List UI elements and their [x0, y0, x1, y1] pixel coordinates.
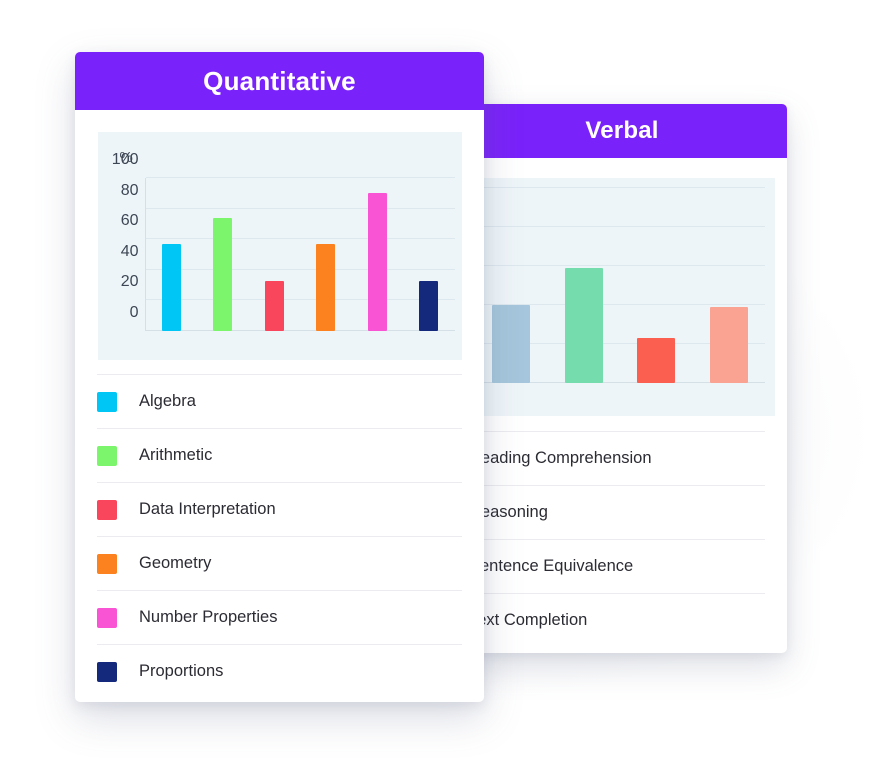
legend-item-label: Reading Comprehension	[469, 449, 652, 468]
bar[interactable]	[637, 338, 675, 383]
legend-item[interactable]: Reasoning	[457, 485, 765, 539]
legend-item-label: Algebra	[139, 392, 196, 411]
legend-item[interactable]: Algebra	[97, 374, 462, 428]
legend-item[interactable]: Data Interpretation	[97, 482, 462, 536]
legend-item-label: Text Completion	[469, 611, 587, 630]
legend-swatch-icon	[97, 554, 117, 574]
quantitative-card-body: % 100806040200 AlgebraArithmeticData Int…	[75, 132, 484, 698]
legend-item[interactable]: Arithmetic	[97, 428, 462, 482]
verbal-card-body: Reading ComprehensionReasoningSentence E…	[457, 178, 787, 647]
verbal-card-title: Verbal	[585, 117, 658, 145]
quantitative-card-title: Quantitative	[203, 66, 356, 97]
verbal-legend: Reading ComprehensionReasoningSentence E…	[457, 431, 765, 647]
legend-swatch-icon	[97, 446, 117, 466]
y-tick-60: 60	[121, 212, 139, 230]
legend-item-label: Arithmetic	[139, 446, 212, 465]
quantitative-bar-chart: % 100806040200	[98, 132, 462, 360]
y-tick-20: 20	[121, 273, 139, 291]
bar[interactable]	[316, 244, 335, 331]
y-tick-100: 100	[112, 151, 139, 169]
legend-item-label: Number Properties	[139, 608, 277, 627]
legend-item-label: Geometry	[139, 554, 211, 573]
legend-item[interactable]: Reading Comprehension	[457, 431, 765, 485]
bar[interactable]	[368, 193, 387, 331]
legend-swatch-icon	[97, 608, 117, 628]
verbal-bar-group	[475, 188, 765, 383]
bar[interactable]	[265, 281, 284, 331]
bar[interactable]	[162, 244, 181, 331]
verbal-bar-chart	[475, 178, 775, 416]
bar[interactable]	[565, 268, 603, 383]
legend-swatch-icon	[97, 500, 117, 520]
legend-item-label: Sentence Equivalence	[469, 557, 633, 576]
legend-item[interactable]: Text Completion	[457, 593, 765, 647]
verbal-card: Verbal Reading ComprehensionReasoningSen…	[457, 104, 787, 653]
bar[interactable]	[419, 281, 438, 331]
quantitative-bar-group	[146, 178, 455, 331]
legend-item-label: Proportions	[139, 662, 223, 681]
verbal-plot-area	[475, 188, 765, 383]
legend-item[interactable]: Number Properties	[97, 590, 462, 644]
quantitative-plot-area: 100806040200	[145, 178, 455, 331]
bar[interactable]	[710, 307, 748, 383]
y-tick-80: 80	[121, 182, 139, 200]
y-tick-40: 40	[121, 243, 139, 261]
legend-swatch-icon	[97, 662, 117, 682]
legend-item[interactable]: Sentence Equivalence	[457, 539, 765, 593]
bar[interactable]	[492, 305, 530, 383]
legend-item[interactable]: Geometry	[97, 536, 462, 590]
quantitative-card-header: Quantitative	[75, 52, 484, 110]
legend-item-label: Data Interpretation	[139, 500, 276, 519]
y-tick-0: 0	[130, 304, 139, 322]
quantitative-legend: AlgebraArithmeticData InterpretationGeom…	[97, 374, 462, 698]
verbal-card-header: Verbal	[457, 104, 787, 158]
legend-item[interactable]: Proportions	[97, 644, 462, 698]
page-background: Verbal Reading ComprehensionReasoningSen…	[0, 0, 876, 776]
legend-swatch-icon	[97, 392, 117, 412]
quantitative-card: Quantitative % 100806040200 AlgebraArith…	[75, 52, 484, 702]
bar[interactable]	[213, 218, 232, 331]
